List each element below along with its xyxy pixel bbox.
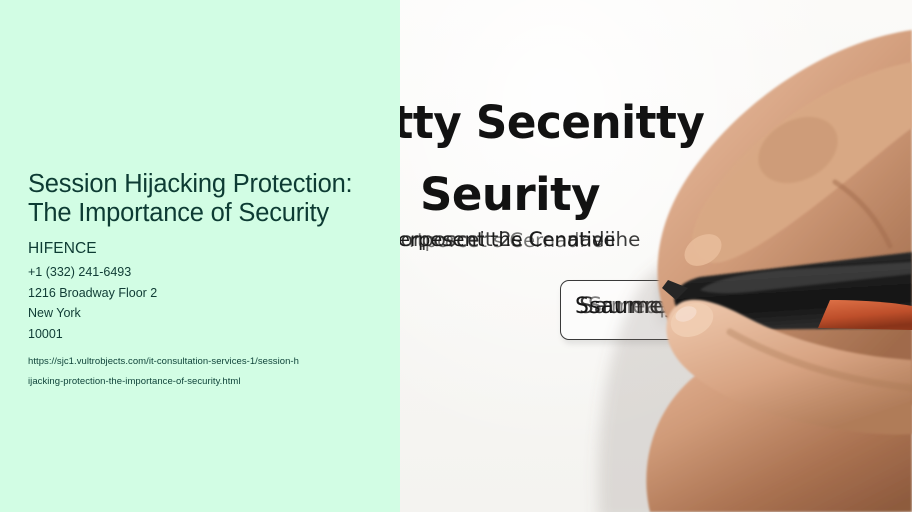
pen-shadow: [656, 276, 752, 336]
whiteboard-subtitle-layer-overlay-b: rtporcet s Cernadhe: [409, 229, 604, 252]
contact-zip: 10001: [28, 324, 374, 345]
page-title: Session Hijacking Protection: The Import…: [28, 170, 374, 228]
whiteboard-video-frame: Session Hijacking Protection: The Import…: [0, 0, 912, 512]
contact-address: 1216 Broadway Floor 2: [28, 283, 374, 304]
whiteboard-headline-line-2: Seurity: [420, 168, 600, 221]
contact-phone: +1 (332) 241-6493: [28, 262, 374, 283]
contact-city: New York: [28, 303, 374, 324]
left-info-panel: Session Hijacking Protection: The Import…: [0, 0, 400, 512]
brand-name: HIFENCE: [28, 238, 374, 259]
article-info-block: Session Hijacking Protection: The Import…: [28, 170, 374, 392]
source-url-line-1: https://sjc1.vultrobjects.com/it-consult…: [28, 352, 374, 372]
whiteboard-panel: itty Secenitty Seurity erpesent the Cena…: [400, 0, 912, 512]
whiteboard-headline-line-1: itty Secenitty: [400, 96, 704, 149]
source-url-line-2: ijacking-protection-the-importance-of-se…: [28, 372, 374, 392]
whiteboard-surface: [400, 0, 912, 512]
source-url[interactable]: https://sjc1.vultrobjects.com/it-consult…: [28, 352, 374, 392]
